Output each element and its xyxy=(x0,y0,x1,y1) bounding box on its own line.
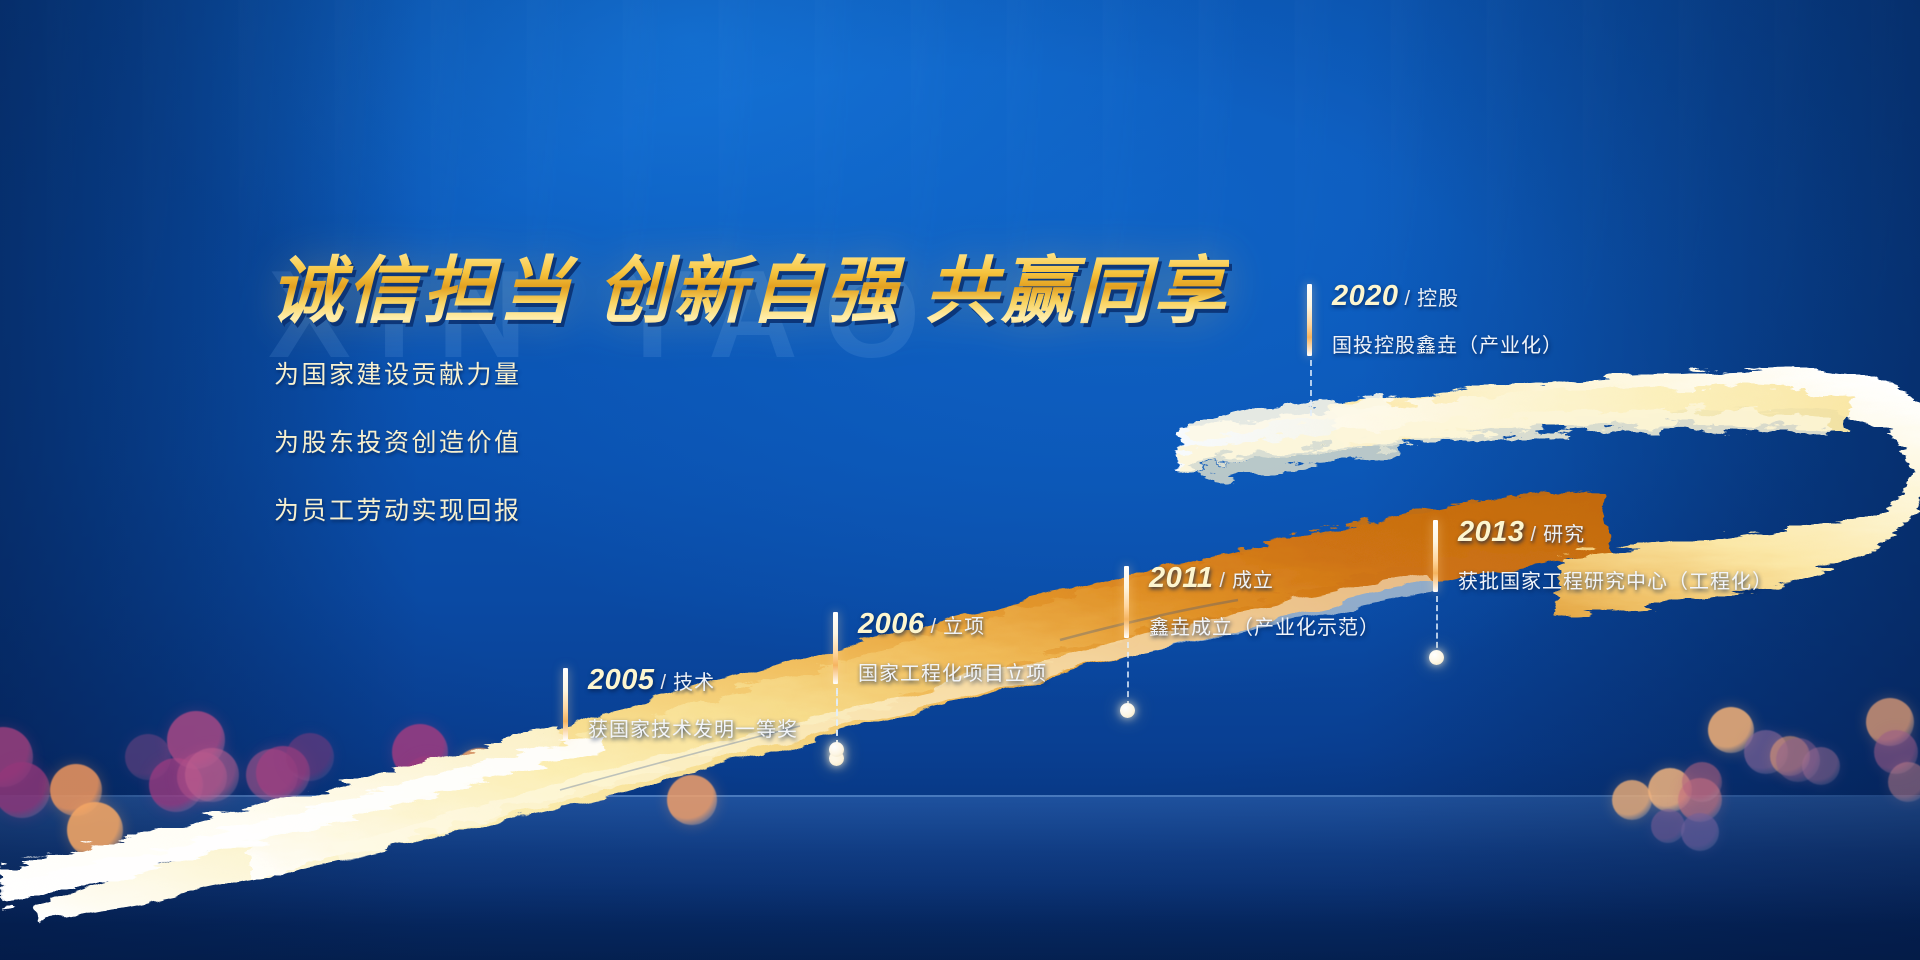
milestone-separator: / xyxy=(1405,288,1411,310)
milestone-separator: / xyxy=(931,616,937,638)
milestone-tag: 研究 xyxy=(1543,524,1585,546)
milestone-text: 2006/立项国家工程化项目立项 xyxy=(858,608,1047,686)
milestone-accent-bar xyxy=(563,668,568,740)
bokeh-circle xyxy=(402,756,454,808)
timeline-point-dot[interactable] xyxy=(829,742,844,757)
milestone-accent-bar xyxy=(1307,284,1312,356)
milestone-year: 2020 xyxy=(1332,280,1399,312)
slogan-line: 为国家建设贡献力量 xyxy=(274,355,522,391)
timeline-point-dot[interactable] xyxy=(1120,703,1135,718)
milestone-text: 2013/研究获批国家工程研究中心（工程化） xyxy=(1458,516,1773,594)
milestone-tag: 控股 xyxy=(1417,288,1459,310)
timeline-point-dot[interactable] xyxy=(1429,650,1444,665)
slogan-list: 为国家建设贡献力量 为股东投资创造价值 为员工劳动实现回报 xyxy=(274,355,522,559)
milestone-separator: / xyxy=(661,672,667,694)
milestone-separator: / xyxy=(1219,570,1225,592)
milestone-text: 2011/成立鑫垚成立（产业化示范） xyxy=(1149,562,1380,640)
slogan-line: 为员工劳动实现回报 xyxy=(274,491,522,527)
bokeh-circle xyxy=(1682,762,1722,802)
milestone-accent-bar xyxy=(833,612,838,684)
bokeh-circle xyxy=(1651,809,1685,843)
timeline-leader-line xyxy=(1310,360,1312,416)
bokeh-circle xyxy=(571,745,621,795)
milestone-tag: 技术 xyxy=(673,672,715,694)
milestone-text: 2020/控股国投控股鑫垚（产业化） xyxy=(1332,280,1563,358)
milestone-description: 国家工程化项目立项 xyxy=(858,657,1047,686)
banner-canvas: XIN YAO 诚信担当 创新自强 共赢同享 为国家建设贡献力量 为股东投资创造… xyxy=(0,0,1920,960)
bokeh-circle xyxy=(667,775,717,825)
bokeh-circle xyxy=(1888,762,1920,802)
bokeh-circle xyxy=(453,748,507,802)
milestone-year: 2013 xyxy=(1458,516,1525,548)
timeline-leader-line xyxy=(1127,642,1129,707)
milestone-description: 国投控股鑫垚（产业化） xyxy=(1332,329,1563,358)
milestone-accent-bar xyxy=(1433,520,1438,592)
milestone-description: 鑫垚成立（产业化示范） xyxy=(1149,611,1380,640)
milestone-year: 2005 xyxy=(588,664,655,696)
bokeh-circle xyxy=(1802,747,1840,785)
milestone-tag: 立项 xyxy=(943,616,985,638)
milestone-text: 2005/技术获国家技术发明一等奖 xyxy=(588,664,798,742)
milestone-description: 获国家技术发明一等奖 xyxy=(588,713,798,742)
timeline-leader-line xyxy=(836,688,838,746)
slogan-line: 为股东投资创造价值 xyxy=(274,423,522,459)
milestone-year: 2011 xyxy=(1149,562,1213,594)
bokeh-circle xyxy=(67,802,123,858)
bokeh-circle xyxy=(185,748,239,802)
milestone-tag: 成立 xyxy=(1232,570,1274,592)
page-title: 诚信担当 创新自强 共赢同享 xyxy=(270,232,1229,338)
bokeh-circle xyxy=(514,738,562,786)
bokeh-circle xyxy=(1681,813,1719,851)
bokeh-circle xyxy=(286,733,334,781)
bokeh-circle xyxy=(1612,780,1652,820)
timeline-leader-line xyxy=(1436,596,1438,657)
milestone-separator: / xyxy=(1531,524,1537,546)
milestone-year: 2006 xyxy=(858,608,925,640)
milestone-accent-bar xyxy=(1124,566,1129,638)
milestone-description: 获批国家工程研究中心（工程化） xyxy=(1458,565,1773,594)
